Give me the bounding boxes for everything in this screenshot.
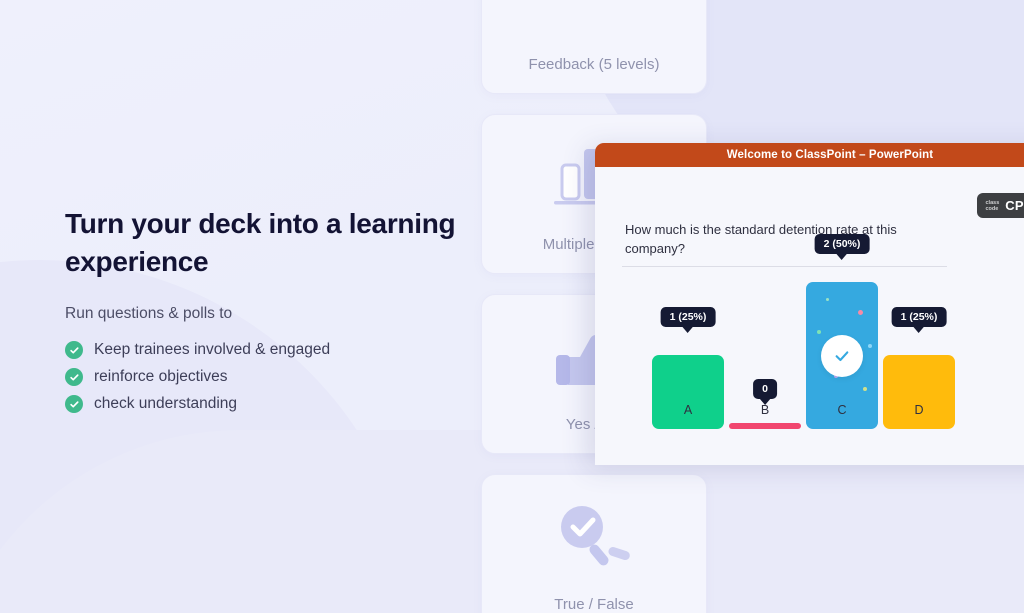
hero-bullet-list: Keep trainees involved & engaged reinfor… xyxy=(65,341,465,413)
check-circle-icon xyxy=(65,368,83,386)
list-item: Keep trainees involved & engaged xyxy=(65,341,465,359)
bullet-label: reinforce objectives xyxy=(94,368,228,386)
magnifier-check-icon xyxy=(482,475,706,596)
confetti-dot xyxy=(863,387,867,391)
bar-value-bubble-c: 2 (50%) xyxy=(815,234,870,254)
class-code-tag-line2: code xyxy=(985,206,998,212)
list-item: reinforce objectives xyxy=(65,368,465,386)
class-code-value: CP123 xyxy=(1005,198,1024,213)
hero-subhead: Run questions & polls to xyxy=(65,305,465,323)
question-text: How much is the standard detention rate … xyxy=(625,220,925,258)
hero-copy: Turn your deck into a learning experienc… xyxy=(65,205,465,422)
bar-d[interactable] xyxy=(883,355,955,429)
bar-b[interactable] xyxy=(729,423,801,429)
check-circle-icon xyxy=(65,395,83,413)
class-code-tag: class code xyxy=(985,200,999,212)
feature-card-label: Feedback (5 levels) xyxy=(529,56,660,73)
bar-value-bubble-a: 1 (25%) xyxy=(661,307,716,327)
confetti-dot xyxy=(826,298,829,301)
bar-a[interactable] xyxy=(652,355,724,429)
window-titlebar[interactable]: Welcome to ClassPoint – PowerPoint xyxy=(595,143,1024,167)
feature-card-feedback[interactable]: Feedback (5 levels) xyxy=(481,0,707,94)
chart-plot-area: 1 (25%) A 0 B 2 (50%) xyxy=(615,267,1024,429)
rating-scale-icon xyxy=(482,0,706,56)
bar-value-bubble-b: 0 xyxy=(753,379,777,399)
feature-card-true-false[interactable]: True / False xyxy=(481,474,707,613)
window-title: Welcome to ClassPoint – PowerPoint xyxy=(727,149,933,161)
page-title: Turn your deck into a learning experienc… xyxy=(65,205,465,281)
confetti-dot xyxy=(817,330,821,334)
bar-value-bubble-d: 1 (25%) xyxy=(892,307,947,327)
class-code-badge[interactable]: class code CP123 xyxy=(977,193,1024,218)
axis-label-d: D xyxy=(882,403,956,417)
results-bar-chart: 1 (25%) A 0 B 2 (50%) xyxy=(615,267,1024,465)
list-item: check understanding xyxy=(65,395,465,413)
axis-label-a: A xyxy=(651,403,725,417)
axis-label-c: C xyxy=(805,403,879,417)
page-root: Turn your deck into a learning experienc… xyxy=(0,0,1024,613)
confetti-dot xyxy=(868,344,872,348)
check-circle-icon xyxy=(65,341,83,359)
powerpoint-window: Welcome to ClassPoint – PowerPoint class… xyxy=(595,143,1024,465)
feature-card-label: True / False xyxy=(554,596,633,613)
bullet-label: Keep trainees involved & engaged xyxy=(94,341,330,359)
axis-label-b: B xyxy=(728,403,802,417)
correct-answer-check-circle-icon xyxy=(821,335,863,377)
confetti-dot xyxy=(858,310,863,315)
bullet-label: check understanding xyxy=(94,395,237,413)
slide-canvas: class code CP123 How much is the standar… xyxy=(595,167,1024,465)
